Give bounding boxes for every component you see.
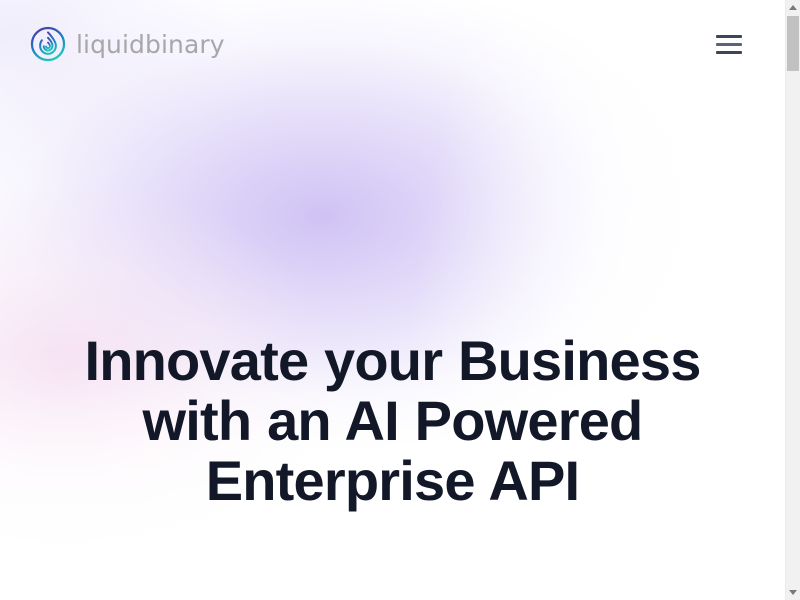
- scroll-up-arrow-glyph: [789, 5, 797, 10]
- brand-logo-link[interactable]: liquidbinary: [30, 26, 225, 62]
- scroll-up-arrow-icon[interactable]: [786, 0, 800, 15]
- brand-logo-mark: [30, 26, 66, 62]
- hero-section: Innovate your Business with an AI Powere…: [0, 88, 785, 600]
- hamburger-bar-middle: [716, 43, 742, 46]
- liquid-droplet-spiral-icon: [30, 26, 66, 62]
- scroll-down-arrow-icon[interactable]: [786, 585, 800, 600]
- browser-viewport: liquidbinary Innovate your Business with…: [0, 0, 800, 600]
- hero-heading: Innovate your Business with an AI Powere…: [43, 331, 743, 511]
- page-content: liquidbinary Innovate your Business with…: [0, 0, 785, 600]
- brand-wordmark: liquidbinary: [76, 32, 225, 57]
- hamburger-bar-top: [716, 35, 742, 38]
- hamburger-bar-bottom: [716, 51, 742, 54]
- scrollbar-track[interactable]: [786, 15, 800, 585]
- vertical-scrollbar[interactable]: [785, 0, 800, 600]
- scrollbar-thumb[interactable]: [787, 16, 799, 71]
- hero-content: Innovate your Business with an AI Powere…: [43, 331, 743, 511]
- hamburger-menu-icon[interactable]: [707, 22, 751, 66]
- site-header: liquidbinary: [0, 0, 785, 88]
- scroll-down-arrow-glyph: [789, 590, 797, 595]
